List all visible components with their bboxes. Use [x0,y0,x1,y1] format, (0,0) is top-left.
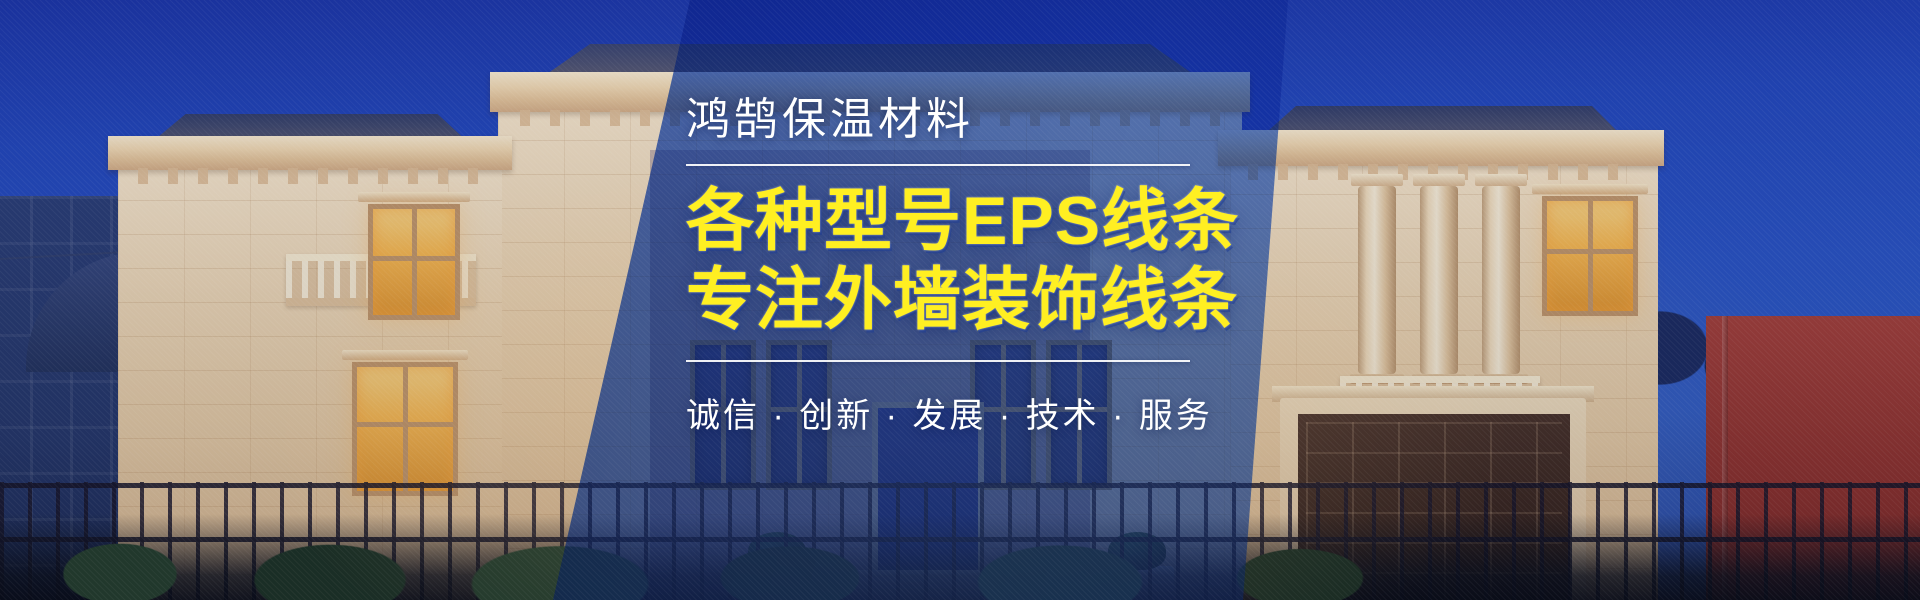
promo-banner: 鸿鹄保温材料 各种型号EPS线条 专注外墙装饰线条 诚信 · 创新 · 发展 ·… [0,0,1920,600]
lit-window [1542,196,1638,316]
window-hood [1532,184,1648,194]
divider-bottom [686,360,1190,362]
headline-line-1: 各种型号EPS线条 [686,182,1246,261]
headline: 各种型号EPS线条 专注外墙装饰线条 [686,182,1246,340]
cornice-left [108,136,512,170]
column [1358,186,1396,374]
divider-top [686,164,1190,166]
text-block: 鸿鹄保温材料 各种型号EPS线条 专注外墙装饰线条 诚信 · 创新 · 发展 ·… [686,96,1246,437]
brand-name: 鸿鹄保温材料 [686,96,1246,144]
lit-window [368,204,460,320]
window-hood [358,192,470,202]
tagline: 诚信 · 创新 · 发展 · 技术 · 服务 [686,388,1246,437]
lit-window [352,362,458,496]
dentils-left [138,168,482,184]
cornice-right [1218,130,1664,166]
column [1420,186,1458,374]
column [1482,186,1520,374]
window-hood [342,350,468,360]
headline-line-2: 专注外墙装饰线条 [686,261,1246,340]
